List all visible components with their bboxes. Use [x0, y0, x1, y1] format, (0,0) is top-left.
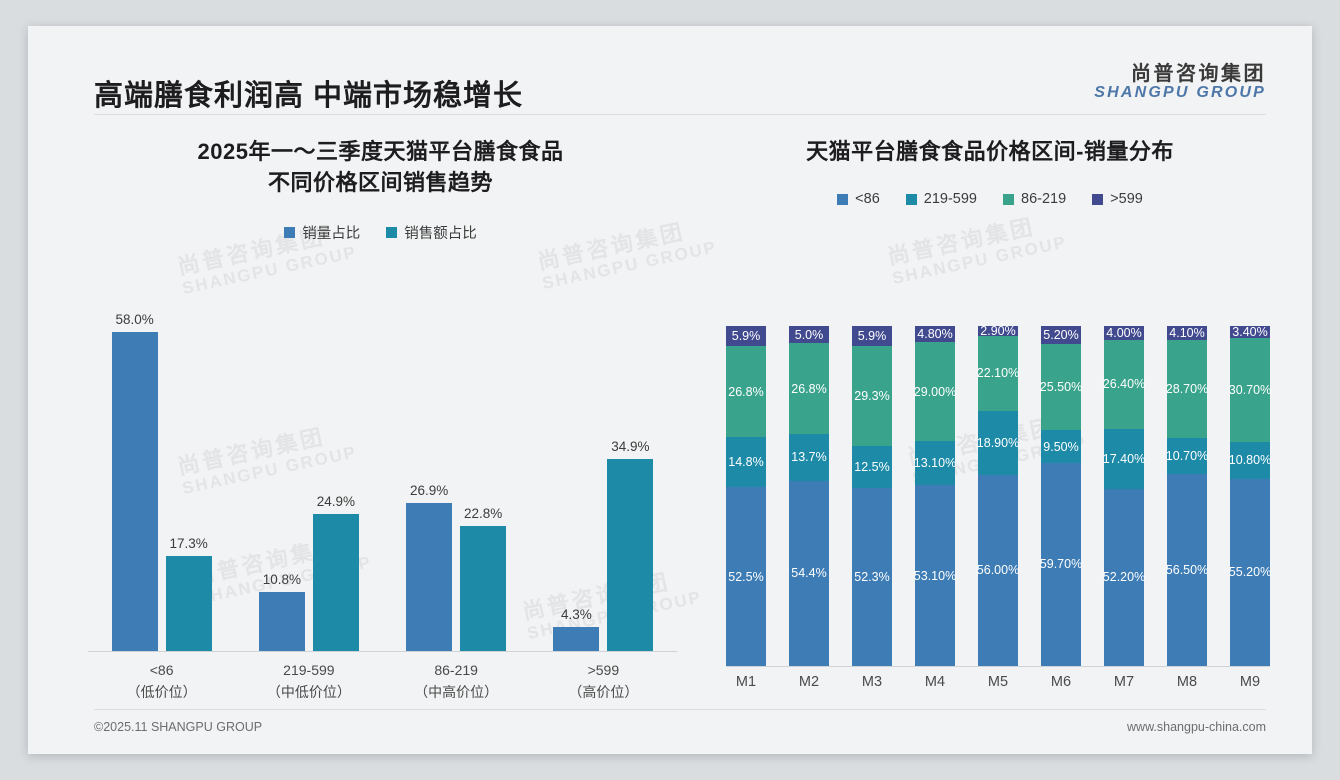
stacked-bar[interactable]: 4.80%29.00%13.10%53.10% [915, 326, 955, 666]
stacked-bar[interactable]: 5.9%29.3%12.5%52.3% [852, 326, 892, 666]
stack-segment-value-label: 56.50% [1166, 563, 1208, 577]
stack-segment: 12.5% [852, 446, 892, 489]
x-axis-label-tier: （高价位） [530, 682, 677, 704]
stack-segment: 52.5% [726, 487, 766, 666]
stack-segment: 52.3% [852, 488, 892, 666]
x-axis-label: M7 [1104, 674, 1144, 690]
footer-website[interactable]: www.shangpu-china.com [1127, 720, 1266, 734]
stack-segment: 9.50% [1041, 430, 1081, 462]
stack-segment-value-label: 5.9% [732, 329, 761, 343]
stack-segment-value-label: 9.50% [1043, 440, 1078, 454]
x-axis-label: M9 [1230, 674, 1270, 690]
legend-label: 86-219 [1021, 191, 1066, 207]
stack-segment-value-label: 54.4% [791, 566, 826, 580]
stack-segment: 28.70% [1167, 340, 1207, 438]
bar-revenue-share[interactable]: 22.8% [460, 526, 506, 651]
stack-segment: 26.8% [726, 346, 766, 437]
bar-rect [607, 459, 653, 651]
legend-item-right-0[interactable]: <86 [837, 191, 880, 207]
stacked-bar[interactable]: 4.10%28.70%10.70%56.50% [1167, 326, 1207, 666]
stack-segment: 52.20% [1104, 489, 1144, 666]
bar-rect [166, 556, 212, 651]
stacked-bar[interactable]: 4.00%26.40%17.40%52.20% [1104, 326, 1144, 666]
x-axis-label: <86（低价位） [88, 660, 235, 703]
stacked-bar[interactable]: 2.90%22.10%18.90%56.00% [978, 326, 1018, 666]
stack-segment-value-label: 12.5% [854, 460, 889, 474]
stack-segment-value-label: 29.3% [854, 389, 889, 403]
chart-legend-right: <86219-59986-219>599 [700, 191, 1280, 207]
slide-header: 高端膳食利润高 中端市场稳增长 尚普咨询集团 SHANGPU GROUP [28, 26, 1312, 116]
bar-rect [313, 514, 359, 651]
chart-title-left: 2025年一～三季度天猫平台膳食食品 不同价格区间销售趋势 [68, 136, 693, 198]
bar-revenue-share[interactable]: 34.9% [607, 459, 653, 651]
bar-rect [460, 526, 506, 651]
footer-copyright: ©2025.11 SHANGPU GROUP [94, 720, 262, 734]
stack-segment-value-label: 4.10% [1169, 326, 1204, 340]
stack-segment: 3.40% [1230, 326, 1270, 338]
stack-segment: 55.20% [1230, 479, 1270, 667]
bar-value-label: 26.9% [410, 483, 448, 498]
stack-segment-value-label: 28.70% [1166, 382, 1208, 396]
stack-segment: 30.70% [1230, 338, 1270, 442]
grouped-bar-plot-area: 58.0%17.3%10.8%24.9%26.9%22.8%4.3%34.9% [88, 321, 677, 651]
bar-value-label: 34.9% [611, 439, 649, 454]
legend-label: 销量占比 [302, 222, 360, 243]
x-axis-categories-right: M1M2M3M4M5M6M7M8M9 [726, 674, 1270, 690]
bar-rect [259, 592, 305, 651]
x-axis-label: M6 [1041, 674, 1081, 690]
stacked-bar[interactable]: 5.0%26.8%13.7%54.4% [789, 326, 829, 666]
stack-segment-value-label: 13.10% [914, 456, 956, 470]
stack-segment: 5.20% [1041, 326, 1081, 344]
x-axis-label: M2 [789, 674, 829, 690]
bar-value-label: 58.0% [115, 312, 153, 327]
x-axis-label-tier: （低价位） [88, 682, 235, 704]
stack-segment: 4.80% [915, 326, 955, 342]
stack-segment: 54.4% [789, 481, 829, 666]
stack-segment-value-label: 5.0% [795, 328, 824, 342]
stack-segment: 4.00% [1104, 326, 1144, 340]
legend-item-right-3[interactable]: >599 [1092, 191, 1143, 207]
stack-segment-value-label: 55.20% [1229, 565, 1271, 579]
chart-title-right: 天猫平台膳食食品价格区间-销量分布 [700, 136, 1280, 167]
x-axis-label-range: <86 [88, 660, 235, 682]
stack-segment: 5.9% [726, 326, 766, 346]
chart-panel-sales-trend: 2025年一～三季度天猫平台膳食食品 不同价格区间销售趋势 销量占比销售额占比 … [68, 136, 693, 706]
stack-segment: 53.10% [915, 485, 955, 666]
stack-segment: 2.90% [978, 326, 1018, 336]
bar-value-label: 4.3% [561, 607, 592, 622]
legend-label: >599 [1110, 191, 1143, 207]
bar-value-label: 10.8% [263, 572, 301, 587]
stack-segment: 59.70% [1041, 463, 1081, 666]
bar-volume-share[interactable]: 26.9% [406, 503, 452, 651]
stack-segment-value-label: 5.9% [858, 329, 887, 343]
stack-segment-value-label: 10.70% [1166, 449, 1208, 463]
x-axis-label-tier: （中高价位） [383, 682, 530, 704]
stack-segment: 22.10% [978, 336, 1018, 411]
bar-rect [553, 627, 599, 651]
stack-segment-value-label: 52.3% [854, 570, 889, 584]
stack-segment-value-label: 26.40% [1103, 377, 1145, 391]
legend-label: <86 [855, 191, 880, 207]
bar-volume-share[interactable]: 4.3% [553, 627, 599, 651]
bar-revenue-share[interactable]: 17.3% [166, 556, 212, 651]
x-axis-label: M1 [726, 674, 766, 690]
stack-segment-value-label: 5.20% [1043, 328, 1078, 342]
bar-group: 4.3%34.9% [530, 321, 677, 651]
x-axis-label-range: >599 [530, 660, 677, 682]
stack-segment-value-label: 30.70% [1229, 383, 1271, 397]
stack-segment-value-label: 52.5% [728, 570, 763, 584]
legend-item-right-2[interactable]: 86-219 [1003, 191, 1066, 207]
stack-segment: 17.40% [1104, 429, 1144, 488]
bar-volume-share[interactable]: 10.8% [259, 592, 305, 651]
bar-value-label: 24.9% [317, 494, 355, 509]
footer-divider [94, 709, 1266, 710]
stacked-bar[interactable]: 3.40%30.70%10.80%55.20% [1230, 326, 1270, 666]
header-divider [94, 114, 1266, 115]
stack-segment: 13.7% [789, 434, 829, 481]
bar-value-label: 22.8% [464, 506, 502, 521]
legend-swatch-icon [386, 227, 397, 238]
stack-segment: 5.9% [852, 326, 892, 346]
stack-segment: 14.8% [726, 437, 766, 487]
slide-canvas: 高端膳食利润高 中端市场稳增长 尚普咨询集团 SHANGPU GROUP 尚普咨… [28, 26, 1312, 754]
stack-segment-value-label: 26.8% [791, 382, 826, 396]
stack-segment: 29.3% [852, 346, 892, 446]
legend-swatch-icon [837, 194, 848, 205]
bar-volume-share[interactable]: 58.0% [112, 332, 158, 651]
bar-group: 26.9%22.8% [383, 321, 530, 651]
x-axis-label: M4 [915, 674, 955, 690]
x-axis-label: 219-599（中低价位） [235, 660, 382, 703]
x-axis-label: 86-219（中高价位） [383, 660, 530, 703]
chart-legend-left: 销量占比销售额占比 [68, 222, 693, 243]
x-axis-label: M3 [852, 674, 892, 690]
page-title: 高端膳食利润高 中端市场稳增长 [94, 72, 523, 114]
x-axis-label: M8 [1167, 674, 1207, 690]
legend-swatch-icon [1003, 194, 1014, 205]
stack-segment-value-label: 13.7% [791, 450, 826, 464]
stack-segment: 10.80% [1230, 442, 1270, 479]
bar-rect [406, 503, 452, 651]
stack-segment-value-label: 56.00% [977, 563, 1019, 577]
x-axis-label-tier: （中低价位） [235, 682, 382, 704]
stack-segment-value-label: 4.00% [1106, 326, 1141, 340]
stack-segment: 56.00% [978, 475, 1018, 665]
stack-segment-value-label: 4.80% [917, 327, 952, 341]
brand-logo: 尚普咨询集团 SHANGPU GROUP [1094, 64, 1266, 102]
legend-item-right-1[interactable]: 219-599 [906, 191, 977, 207]
stack-segment: 25.50% [1041, 344, 1081, 431]
stack-segment: 26.40% [1104, 340, 1144, 430]
logo-chinese-text: 尚普咨询集团 [1094, 64, 1266, 85]
logo-english-text: SHANGPU GROUP [1094, 85, 1266, 102]
legend-item-left-0[interactable]: 销量占比 [284, 222, 360, 243]
legend-swatch-icon [906, 194, 917, 205]
legend-label: 219-599 [924, 191, 977, 207]
stacked-bar-plot-area: 5.9%26.8%14.8%52.5%5.0%26.8%13.7%54.4%5.… [726, 326, 1270, 666]
bar-value-label: 17.3% [169, 536, 207, 551]
stack-segment-value-label: 59.70% [1040, 557, 1082, 571]
stack-segment: 13.10% [915, 441, 955, 486]
stack-segment: 26.8% [789, 343, 829, 434]
x-axis-line-right [726, 666, 1270, 667]
stack-segment: 4.10% [1167, 326, 1207, 340]
stack-segment: 18.90% [978, 411, 1018, 475]
bar-rect [112, 332, 158, 651]
bar-group: 58.0%17.3% [88, 321, 235, 651]
stack-segment-value-label: 10.80% [1229, 453, 1271, 467]
stacked-bar[interactable]: 5.20%25.50%9.50%59.70% [1041, 326, 1081, 666]
bar-group: 10.8%24.9% [235, 321, 382, 651]
legend-swatch-icon [284, 227, 295, 238]
bar-revenue-share[interactable]: 24.9% [313, 514, 359, 651]
legend-item-left-1[interactable]: 销售额占比 [386, 222, 477, 243]
legend-swatch-icon [1092, 194, 1103, 205]
stack-segment-value-label: 25.50% [1040, 380, 1082, 394]
stack-segment: 5.0% [789, 326, 829, 343]
stack-segment-value-label: 52.20% [1103, 570, 1145, 584]
x-axis-label: M5 [978, 674, 1018, 690]
legend-label: 销售额占比 [404, 222, 477, 243]
stack-segment-value-label: 22.10% [977, 366, 1019, 380]
x-axis-label-range: 219-599 [235, 660, 382, 682]
stack-segment-value-label: 29.00% [914, 385, 956, 399]
stack-segment: 29.00% [915, 342, 955, 441]
stack-segment-value-label: 14.8% [728, 455, 763, 469]
x-axis-label-range: 86-219 [383, 660, 530, 682]
chart-panel-volume-distribution: 天猫平台膳食食品价格区间-销量分布 <86219-59986-219>599 5… [700, 136, 1280, 706]
stacked-bar[interactable]: 5.9%26.8%14.8%52.5% [726, 326, 766, 666]
x-axis-label: >599（高价位） [530, 660, 677, 703]
stack-segment-value-label: 53.10% [914, 569, 956, 583]
stack-segment-value-label: 26.8% [728, 385, 763, 399]
stack-segment-value-label: 18.90% [977, 436, 1019, 450]
x-axis-line-left [88, 651, 677, 652]
stack-segment-value-label: 17.40% [1103, 452, 1145, 466]
stack-segment: 10.70% [1167, 438, 1207, 474]
stack-segment: 56.50% [1167, 474, 1207, 666]
